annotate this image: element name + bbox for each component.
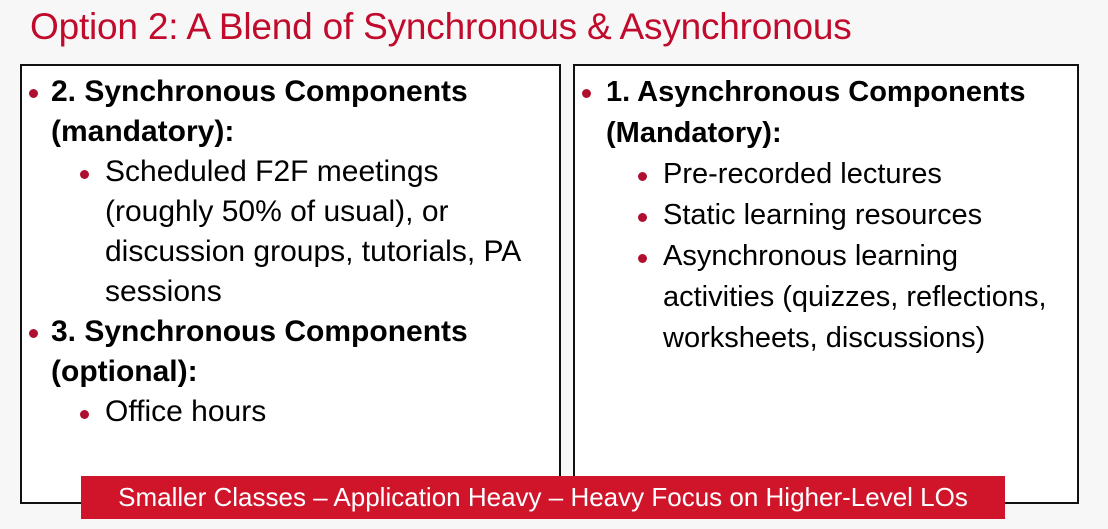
panel-content-left: 2. Synchronous Components (mandatory): S… bbox=[22, 66, 559, 432]
list-item: 1. Asynchronous Components (Mandatory): bbox=[579, 72, 1073, 154]
bullet-text: Pre-recorded lectures bbox=[663, 154, 1073, 195]
list-item: Static learning resources bbox=[634, 195, 1073, 236]
bullet-dot-icon bbox=[582, 89, 591, 98]
asynchronous-components-panel: 1. Asynchronous Components (Mandatory): … bbox=[573, 64, 1079, 504]
bullet-dot-icon bbox=[80, 170, 89, 179]
bullet-dot-icon bbox=[80, 410, 89, 419]
bullet-list-level2-left-1: Scheduled F2F meetings (roughly 50% of u… bbox=[76, 152, 555, 312]
bullet-text: Static learning resources bbox=[663, 195, 1073, 236]
list-item: Asynchronous learning activities (quizze… bbox=[634, 236, 1073, 359]
list-item: Office hours bbox=[76, 392, 555, 432]
bullet-list-level2-right: Pre-recorded lectures Static learning re… bbox=[634, 154, 1073, 359]
bullet-text: Scheduled F2F meetings (roughly 50% of u… bbox=[105, 152, 555, 312]
bullet-text: Office hours bbox=[105, 392, 555, 432]
bullet-text: 1. Asynchronous Components (Mandatory): bbox=[606, 72, 1073, 154]
bullet-text: Asynchronous learning activities (quizze… bbox=[663, 236, 1073, 359]
bullet-dot-icon bbox=[638, 172, 647, 181]
bullet-text: 3. Synchronous Components (optional): bbox=[51, 312, 555, 392]
bullet-dot-icon bbox=[29, 329, 38, 338]
slide-canvas: Option 2: A Blend of Synchronous & Async… bbox=[0, 0, 1108, 529]
list-item: 3. Synchronous Components (optional): bbox=[26, 312, 555, 392]
list-item: Pre-recorded lectures bbox=[634, 154, 1073, 195]
summary-banner: Smaller Classes – Application Heavy – He… bbox=[81, 476, 1005, 519]
synchronous-components-panel: 2. Synchronous Components (mandatory): S… bbox=[20, 64, 561, 504]
list-item: 2. Synchronous Components (mandatory): bbox=[26, 72, 555, 152]
list-item: Scheduled F2F meetings (roughly 50% of u… bbox=[76, 152, 555, 312]
bullet-dot-icon bbox=[29, 89, 38, 98]
panel-content-right: 1. Asynchronous Components (Mandatory): … bbox=[575, 66, 1077, 359]
bullet-text: 2. Synchronous Components (mandatory): bbox=[51, 72, 555, 152]
bullet-dot-icon bbox=[638, 213, 647, 222]
bullet-list-level2-left-2: Office hours bbox=[76, 392, 555, 432]
bullet-dot-icon bbox=[638, 254, 647, 263]
bullet-list-level1-right: 1. Asynchronous Components (Mandatory): … bbox=[579, 72, 1073, 359]
page-title: Option 2: A Blend of Synchronous & Async… bbox=[30, 2, 1080, 54]
bullet-list-level1-left: 2. Synchronous Components (mandatory): S… bbox=[26, 72, 555, 432]
